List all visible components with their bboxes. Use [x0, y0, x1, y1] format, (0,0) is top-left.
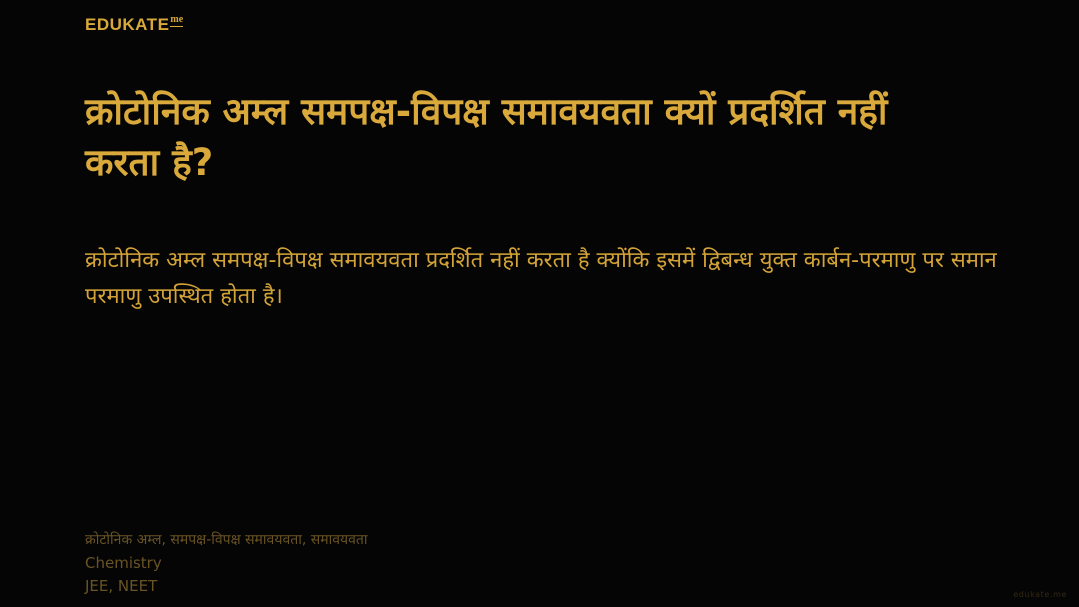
question-headline: क्रोटोनिक अम्ल समपक्ष-विपक्ष समावयवता क्… — [85, 86, 945, 188]
slide-footer-meta: क्रोटोनिक अम्ल, समपक्ष-विपक्ष समावयवता, … — [85, 530, 785, 598]
meta-exams: JEE, NEET — [85, 575, 785, 598]
meta-tags: क्रोटोनिक अम्ल, समपक्ष-विपक्ष समावयवता, … — [85, 530, 785, 552]
edukate-logo[interactable]: EDUKATE me — [85, 16, 183, 33]
question-slide: EDUKATE me क्रोटोनिक अम्ल समपक्ष-विपक्ष … — [0, 0, 1079, 607]
brand-wordmark: EDUKATE — [85, 16, 169, 33]
answer-body-text: क्रोटोनिक अम्ल समपक्ष-विपक्ष समावयवता प्… — [85, 243, 1015, 314]
corner-watermark: edukate.me — [1013, 590, 1067, 599]
brand-superscript-me: me — [170, 15, 183, 27]
meta-subject: Chemistry — [85, 552, 785, 575]
